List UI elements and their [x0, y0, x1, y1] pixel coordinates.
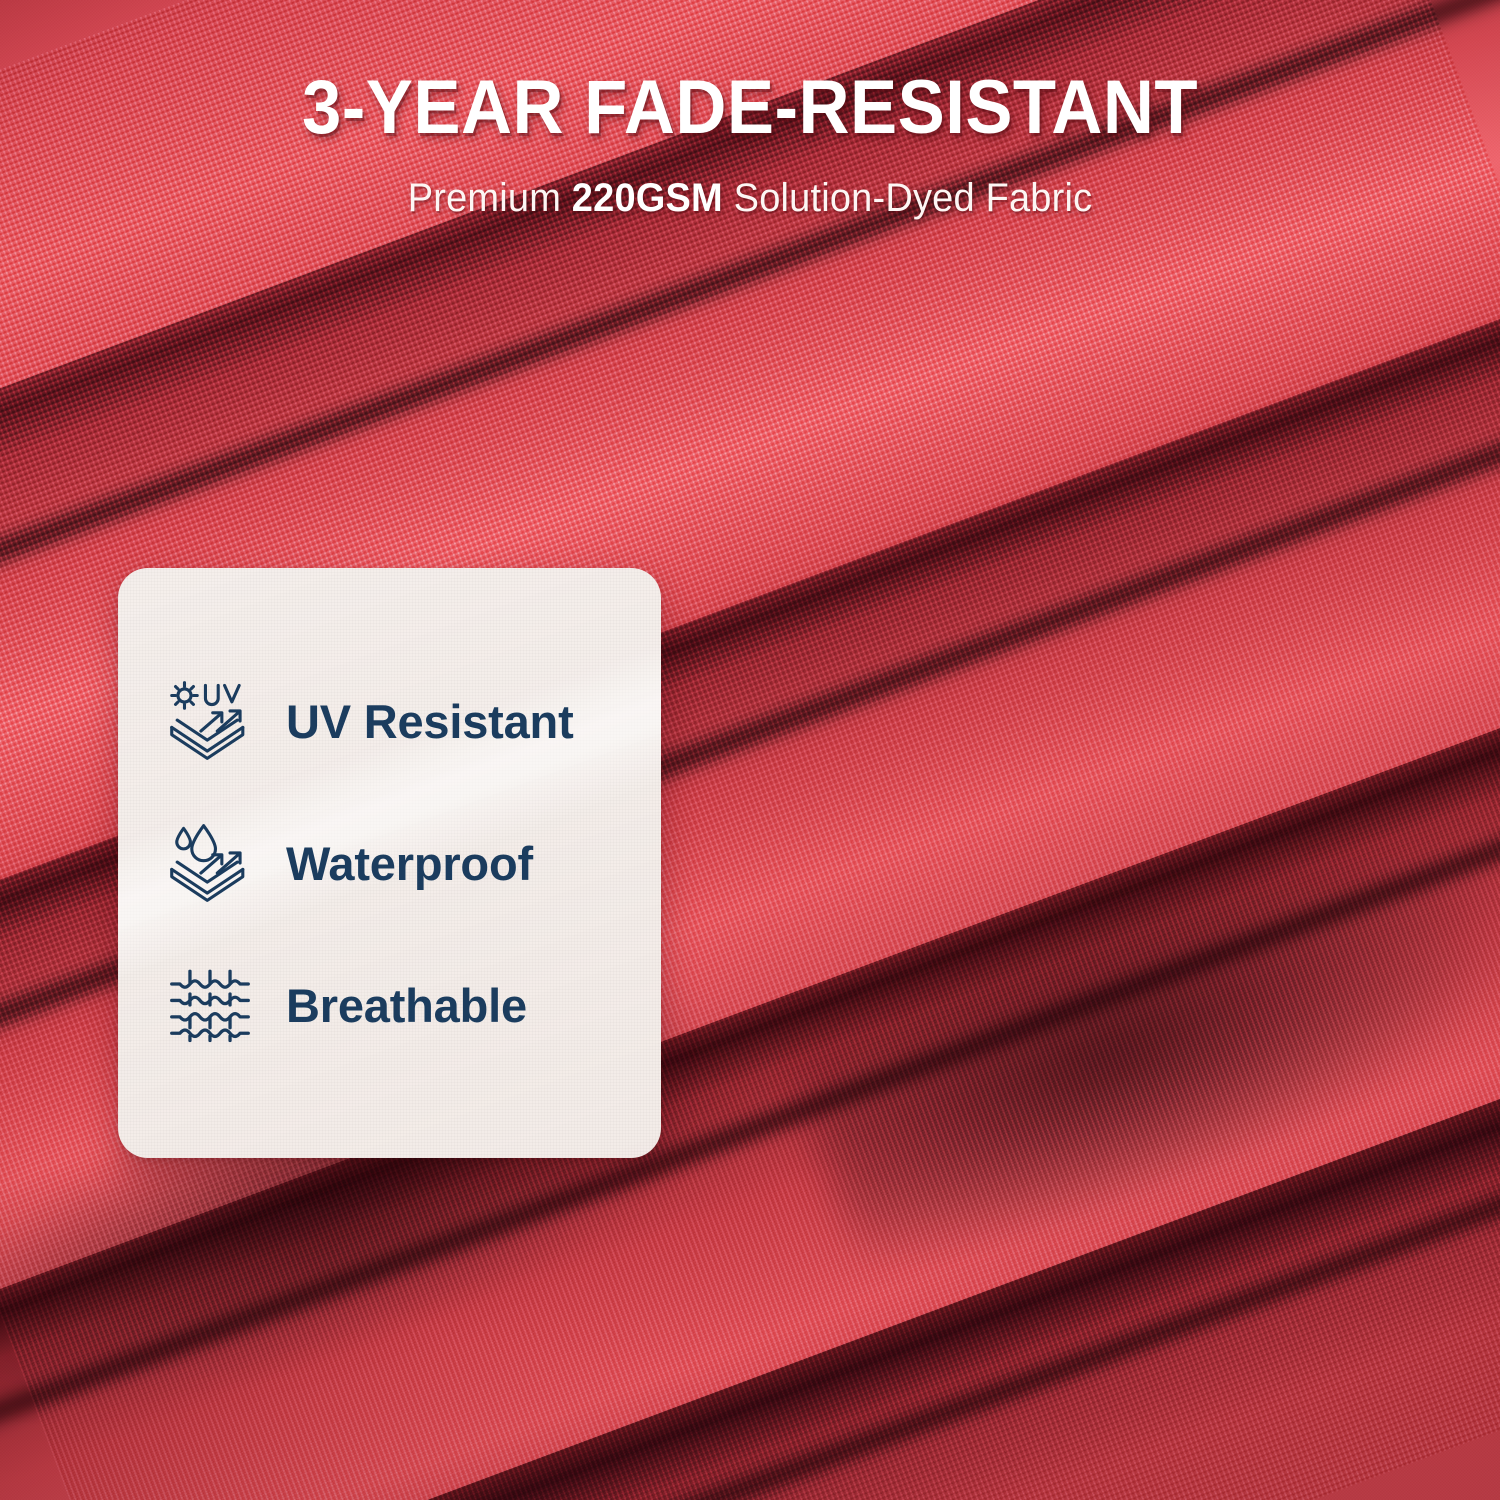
feature-item-waterproof: Waterproof: [162, 820, 661, 906]
subtitle-suffix: Solution-Dyed Fabric: [723, 176, 1092, 220]
feature-label: Waterproof: [286, 840, 533, 887]
subtitle-weight-value: 220GSM: [572, 176, 723, 220]
feature-list: UV Resistant: [118, 568, 661, 1158]
waterproof-icon: [162, 820, 258, 906]
feature-label: UV Resistant: [286, 698, 574, 745]
page-subtitle: Premium 220GSM Solution-Dyed Fabric: [38, 176, 1463, 221]
feature-item-uv-resistant: UV Resistant: [162, 678, 661, 764]
feature-label: Breathable: [286, 982, 527, 1029]
page-title: 3-YEAR FADE-RESISTANT: [53, 70, 1448, 146]
uv-resistant-icon: [162, 678, 258, 764]
feature-card: UV Resistant: [118, 568, 661, 1158]
headline-block: 3-YEAR FADE-RESISTANT Premium 220GSM Sol…: [0, 70, 1500, 221]
breathable-weave-icon: [162, 962, 258, 1048]
feature-item-breathable: Breathable: [162, 962, 661, 1048]
subtitle-prefix: Premium: [408, 176, 572, 220]
product-feature-banner: 3-YEAR FADE-RESISTANT Premium 220GSM Sol…: [0, 0, 1500, 1500]
